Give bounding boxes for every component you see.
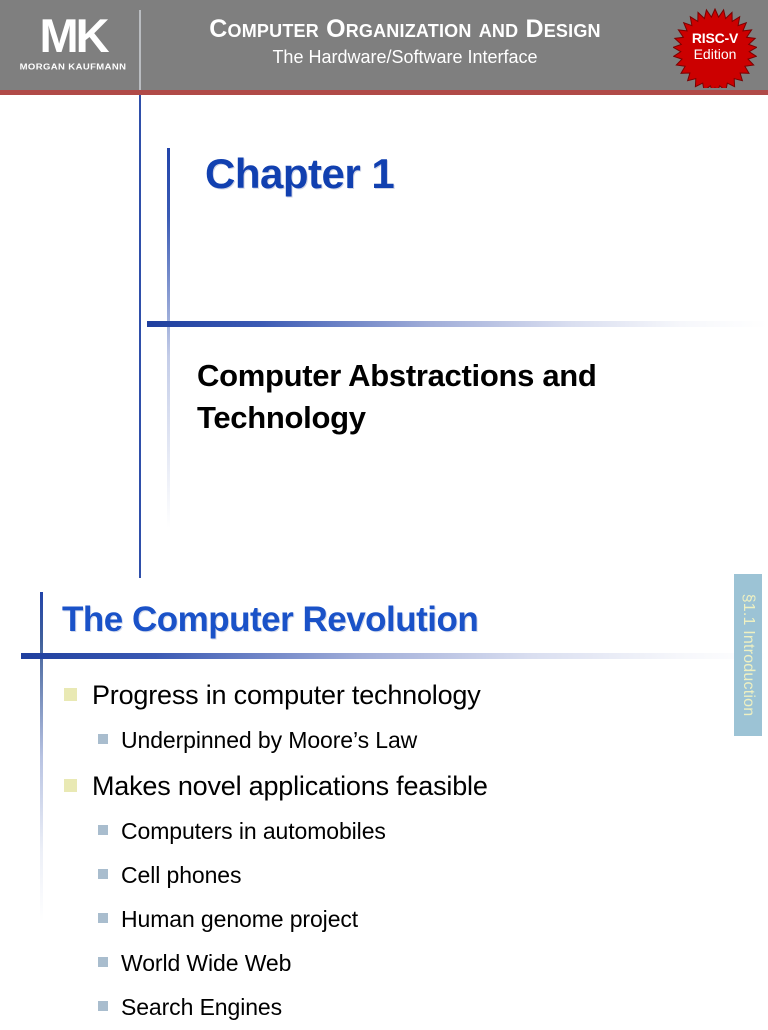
mk-logo-wordmark: MORGAN KAUFMANN [18, 63, 128, 72]
bullet-text: Search Engines [121, 986, 282, 1029]
morgan-kaufmann-logo: MK MORGAN KAUFMANN [18, 12, 128, 82]
bullet-text: World Wide Web [121, 942, 291, 985]
mk-logo-mark: MK [18, 12, 128, 60]
bullet-item-level2: Computers in automobiles [0, 810, 700, 853]
bullet-item-level1: Progress in computer technology [0, 672, 700, 718]
bullet-item-level2: Human genome project [0, 898, 700, 941]
section-side-tab-label: §1.1 Introduction [739, 594, 757, 717]
bullet-square-icon [98, 1001, 108, 1011]
bullet-square-icon [98, 957, 108, 967]
section-side-tab: §1.1 Introduction [734, 574, 762, 736]
starburst-icon [673, 9, 757, 88]
bullet-square-icon [98, 734, 108, 744]
bullet-item-level2: Search Engines [0, 986, 700, 1029]
riscv-edition-badge: RISC-V Edition [673, 8, 757, 88]
bullet-item-level1: Makes novel applications feasible [0, 763, 700, 809]
slide-inner-accent-line [167, 148, 170, 528]
bullet-list: Progress in computer technologyUnderpinn… [0, 672, 700, 1030]
bullet-text: Cell phones [121, 854, 241, 897]
bullet-text: Makes novel applications feasible [92, 763, 488, 809]
bullet-square-icon [98, 913, 108, 923]
bullet-item-level2: Underpinned by Moore’s Law [0, 719, 700, 762]
bullet-square-icon [64, 779, 77, 792]
bullet-text: Underpinned by Moore’s Law [121, 719, 417, 762]
header-text-block: Computer Organization and Design The Har… [150, 14, 660, 69]
slide-left-accent-line [139, 95, 141, 578]
book-title: Computer Organization and Design [150, 14, 660, 44]
bullet-square-icon [98, 825, 108, 835]
bullet-text: Computers in automobiles [121, 810, 386, 853]
book-subtitle: The Hardware/Software Interface [150, 45, 660, 69]
chapter-number: Chapter 1 [205, 150, 394, 198]
bullet-text: Progress in computer technology [92, 672, 481, 718]
section-title: The Computer Revolution [62, 600, 478, 640]
bullet-item-level2: Cell phones [0, 854, 700, 897]
section-title-rule [21, 653, 768, 659]
header-divider [139, 10, 141, 90]
chapter-title-slide: Chapter 1 Computer Abstractions and Tech… [0, 95, 768, 580]
bullet-square-icon [98, 869, 108, 879]
bullet-text: Human genome project [121, 898, 358, 941]
chapter-title-rule [147, 321, 768, 327]
chapter-subject: Computer Abstractions and Technology [197, 355, 667, 439]
bullet-item-level2: World Wide Web [0, 942, 700, 985]
bullet-square-icon [64, 688, 77, 701]
